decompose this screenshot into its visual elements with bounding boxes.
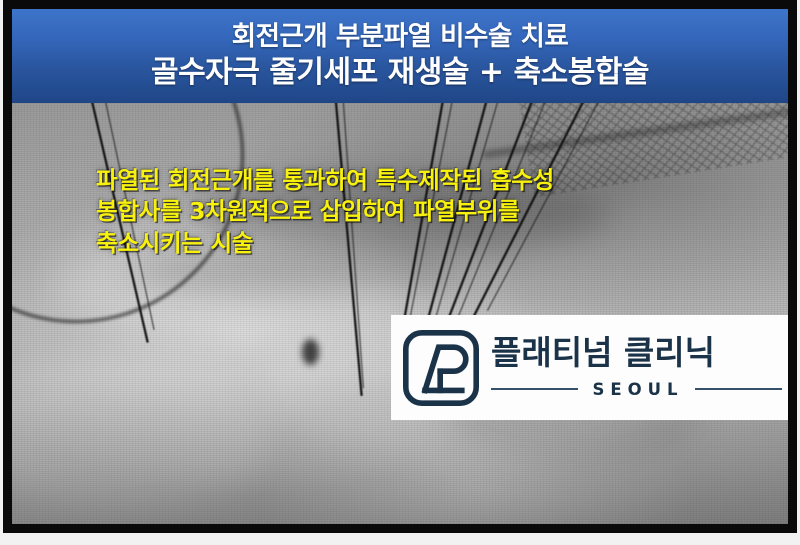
clinic-logo-panel: 플래티넘 클리닉 SEOUL <box>391 315 788 420</box>
tissue-highlight-3 <box>12 353 272 513</box>
gauze-edge-shadow <box>483 106 788 161</box>
banner-title-line-1: 회전근개 부분파열 비수술 치료 <box>232 24 569 51</box>
caption-line-3: 축소시키는 시술 <box>96 228 716 259</box>
poster-root: 회전근개 부분파열 비수술 치료 골수자극 줄기세포 재생술 + 축소봉합술 <box>0 0 800 545</box>
clinic-subtitle-row: SEOUL <box>491 380 782 399</box>
clinic-logo-text: 플래티넘 클리닉 SEOUL <box>491 336 788 399</box>
subtitle-rule-left <box>491 388 578 390</box>
subtitle-rule-right <box>695 388 782 390</box>
banner-title-line-2: 골수자극 줄기세포 재생술 + 축소봉합술 <box>151 58 649 88</box>
caption-line-2: 봉합사를 3차원적으로 삽입하여 파열부위를 <box>96 196 716 227</box>
clinic-name: 플래티넘 클리닉 <box>491 336 782 371</box>
platinum-clinic-monogram-icon <box>401 328 481 408</box>
photo-caption: 파열된 회전근개를 통과하여 특수제작된 흡수성 봉합사를 3차원적으로 삽입하… <box>96 165 716 259</box>
title-banner: 회전근개 부분파열 비수술 치료 골수자극 줄기세포 재생술 + 축소봉합술 <box>12 9 788 103</box>
caption-line-1: 파열된 회전근개를 통과하여 특수제작된 흡수성 <box>96 165 716 196</box>
suture-entry-point <box>302 339 319 365</box>
clinic-city-label: SEOUL <box>578 380 694 399</box>
poster-content: 회전근개 부분파열 비수술 치료 골수자극 줄기세포 재생술 + 축소봉합술 <box>12 9 788 524</box>
